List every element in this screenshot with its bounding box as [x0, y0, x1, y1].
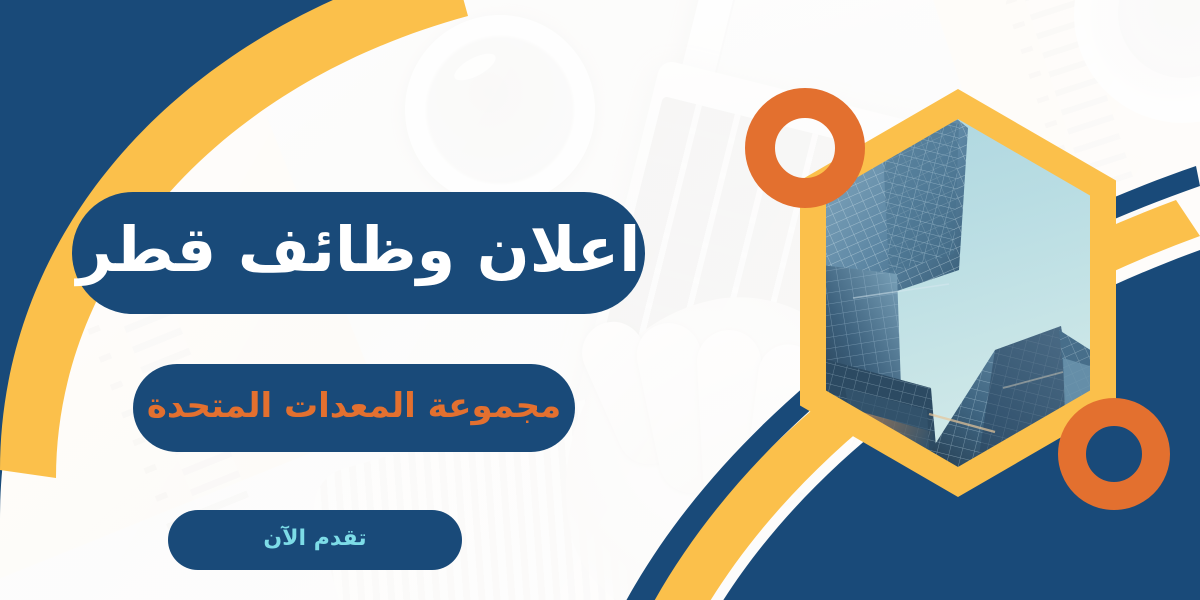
company-name: مجموعة المعدات المتحدة: [133, 364, 575, 452]
page-title: اعلان وظائف قطر: [72, 192, 645, 314]
job-ad-banner: اعلان وظائف قطر مجموعة المعدات المتحدة ت…: [0, 0, 1200, 600]
orange-ring-bottom: [1058, 398, 1170, 510]
apply-now-button[interactable]: تقدم الآن: [168, 510, 462, 570]
orange-ring-top: [745, 88, 865, 208]
